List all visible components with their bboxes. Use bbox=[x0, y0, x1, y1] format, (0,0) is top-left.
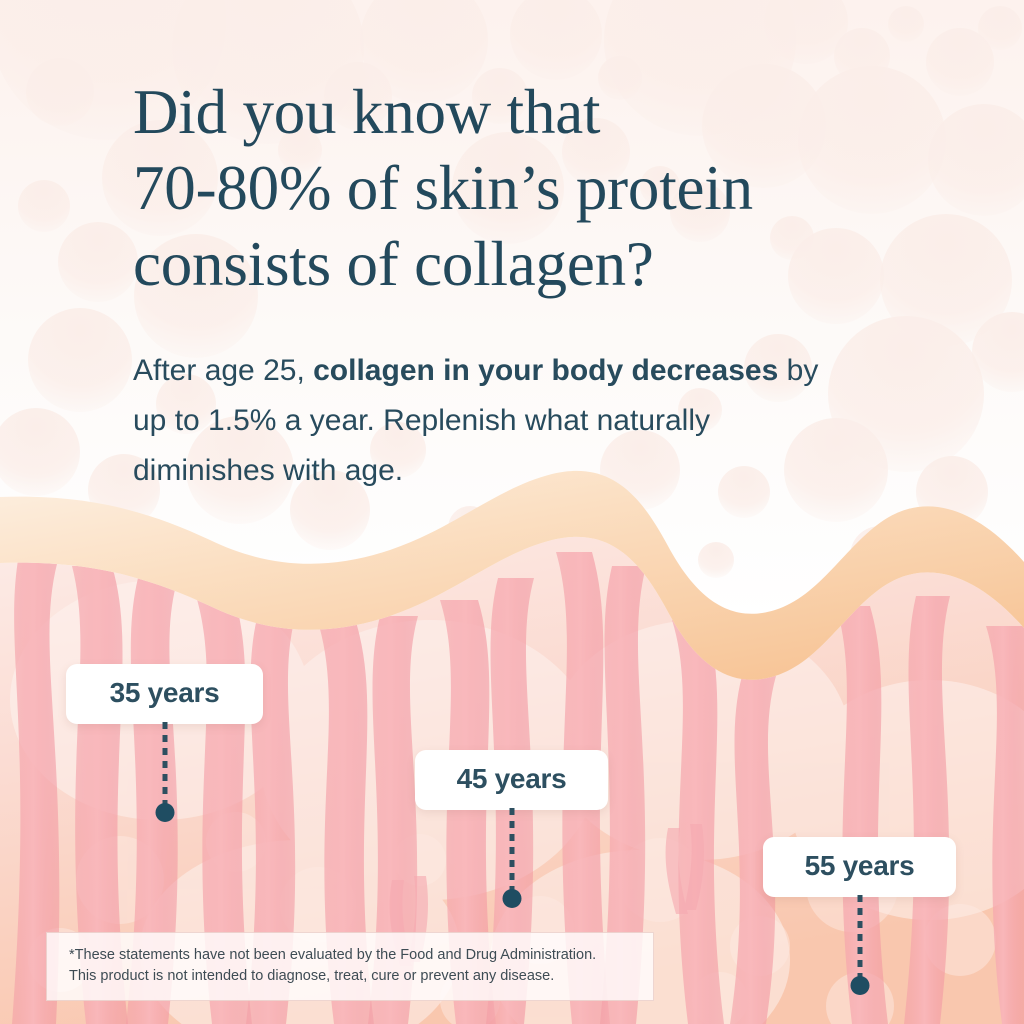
age-marker-35-label[interactable]: 35 years bbox=[66, 664, 263, 724]
age-marker-35[interactable]: 35 years bbox=[66, 664, 263, 724]
age-marker-55-dot bbox=[850, 976, 869, 995]
text-block: Did you know that 70-80% of skin’s prote… bbox=[133, 74, 923, 496]
subhead-paragraph: After age 25, collagen in your body decr… bbox=[133, 302, 859, 496]
age-marker-45-label[interactable]: 45 years bbox=[415, 750, 608, 810]
age-marker-45-stem bbox=[509, 808, 514, 894]
subhead-emphasis: collagen in your body decreases bbox=[313, 354, 778, 387]
infographic-canvas: Did you know that 70-80% of skin’s prote… bbox=[0, 0, 1024, 1024]
age-marker-35-dot bbox=[155, 803, 174, 822]
age-marker-35-stem bbox=[162, 722, 167, 808]
fda-disclaimer: *These statements have not been evaluate… bbox=[46, 932, 654, 1001]
subhead-lead: After age 25, bbox=[133, 354, 313, 387]
age-marker-55-label[interactable]: 55 years bbox=[763, 837, 956, 897]
age-marker-45[interactable]: 45 years bbox=[415, 750, 608, 810]
age-marker-45-dot bbox=[502, 889, 521, 908]
age-marker-55-stem bbox=[857, 895, 862, 981]
age-marker-55[interactable]: 55 years bbox=[763, 837, 956, 897]
page-title: Did you know that 70-80% of skin’s prote… bbox=[133, 74, 923, 302]
